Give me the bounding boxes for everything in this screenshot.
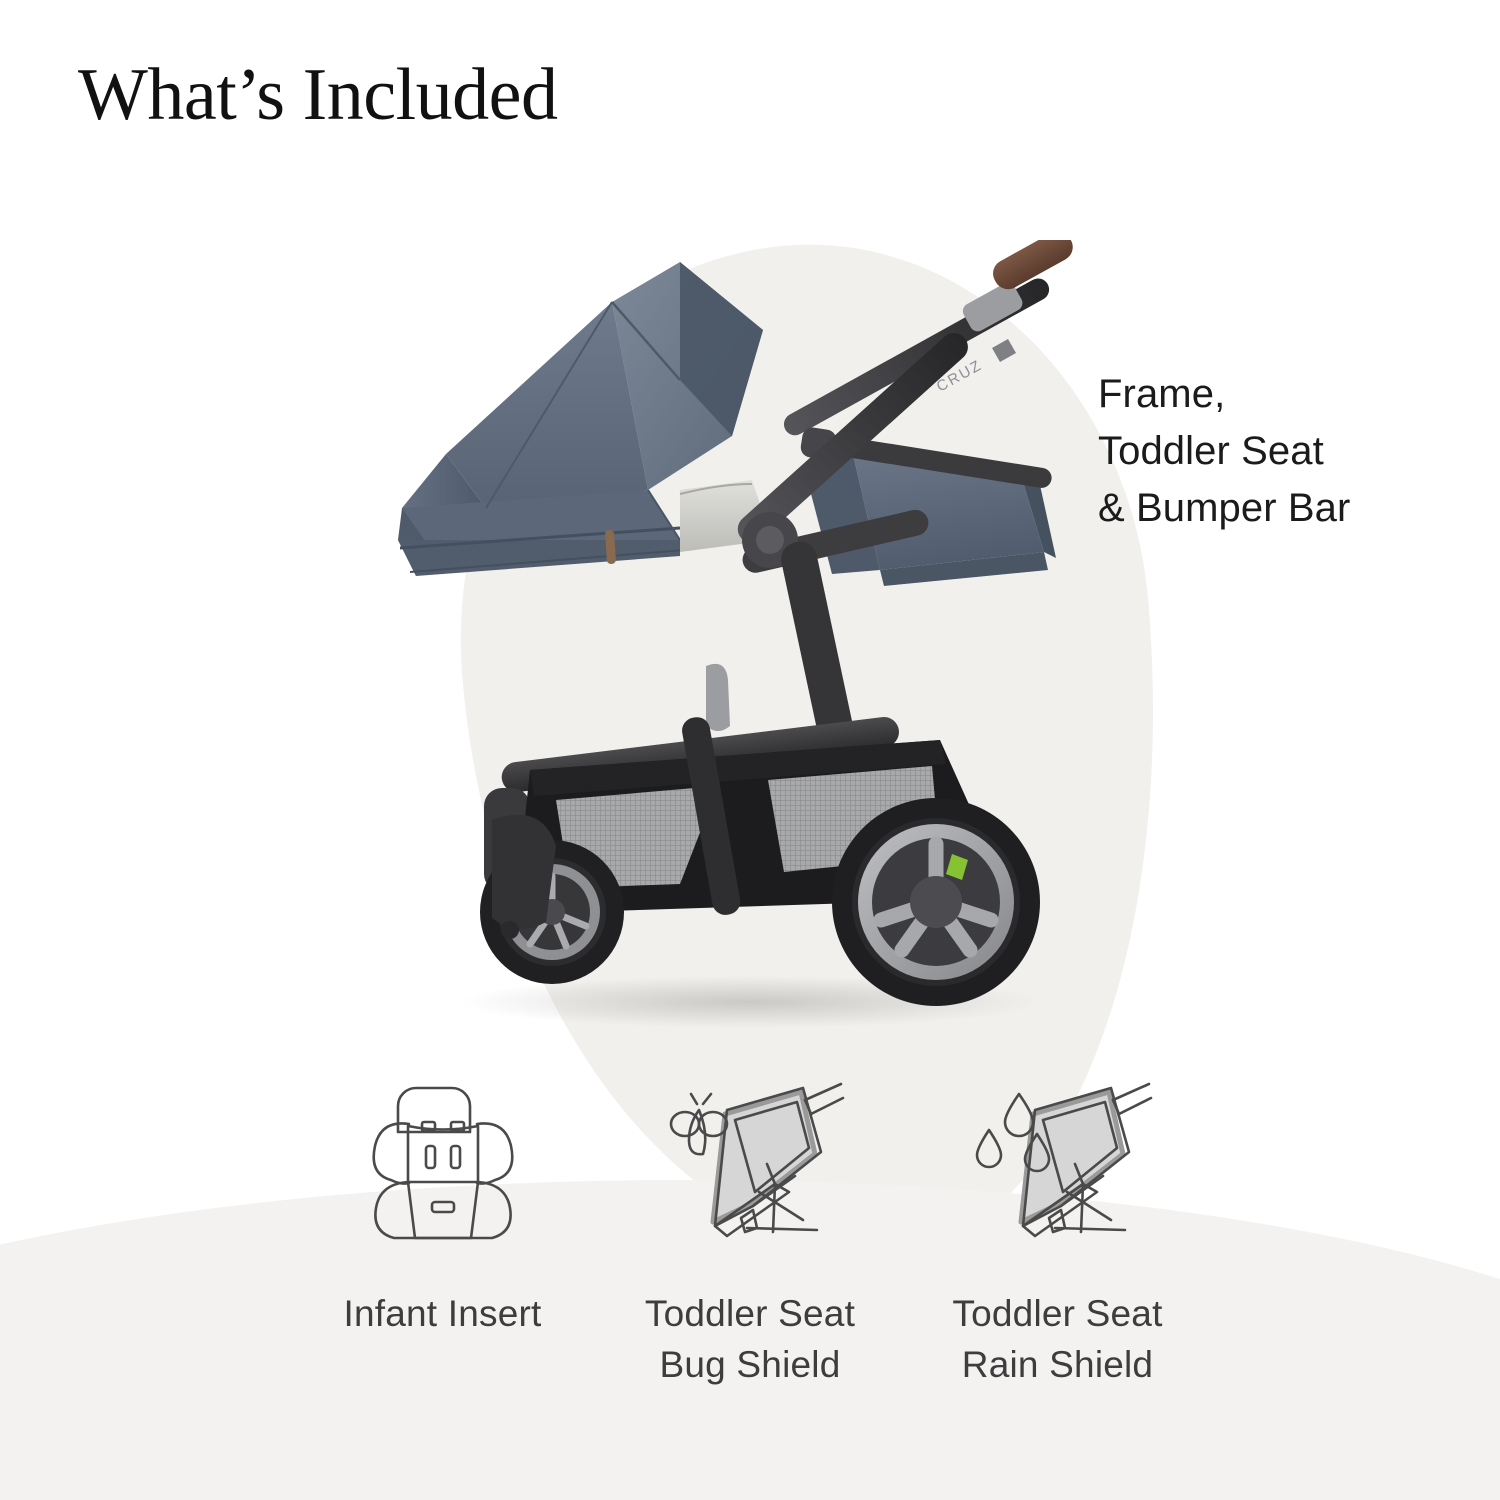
accessory-label: Toddler Seat Bug Shield: [645, 1288, 855, 1390]
handlebar: CRUZ: [780, 240, 1078, 439]
bug-glyph: [671, 1094, 727, 1154]
page-title: What’s Included: [78, 58, 558, 132]
callout-frame-toddler-seat: Frame, Toddler Seat & Bumper Bar: [1098, 366, 1350, 536]
toddler-seat-bug-shield-icon: [655, 1080, 845, 1248]
fold-latch: [706, 664, 730, 731]
caster-fork: [492, 815, 556, 929]
callout-line-1: Frame,: [1098, 366, 1350, 423]
accessory-label: Infant Insert: [344, 1288, 542, 1339]
callout-line-2: Toddler Seat: [1098, 423, 1350, 480]
accessory-list: Infant Insert: [300, 1080, 1200, 1390]
rear-wheel: [832, 798, 1040, 1006]
accessory-item-rain-shield: Toddler Seat Rain Shield: [915, 1080, 1200, 1390]
infographic-canvas: What’s Included: [0, 0, 1500, 1500]
product-illustration: CRUZ: [380, 240, 1100, 1050]
accessory-item-infant-insert: Infant Insert: [300, 1080, 585, 1339]
infant-insert-icon: [348, 1080, 538, 1248]
toddler-seat-rain-shield-icon: [963, 1080, 1153, 1248]
accessory-item-bug-shield: Toddler Seat Bug Shield: [608, 1080, 893, 1390]
accessory-label: Toddler Seat Rain Shield: [952, 1288, 1162, 1390]
callout-line-3: & Bumper Bar: [1098, 480, 1350, 537]
